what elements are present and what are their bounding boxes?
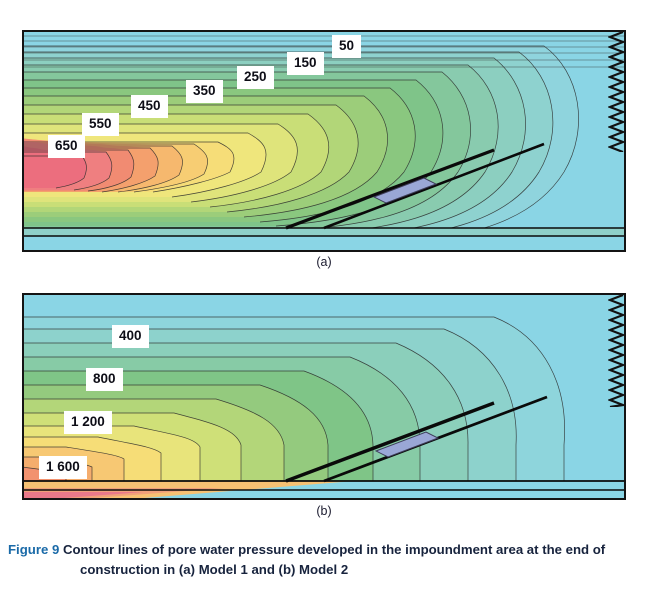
- contour-label-250: 250: [237, 66, 274, 89]
- contour-plot-a: 50 150 250 350 450 550 650: [22, 30, 626, 252]
- contour-label-800: 800: [86, 368, 123, 391]
- boundary-zigzag-icon-b: [608, 295, 624, 407]
- panel-a: 50 150 250 350 450 550 650 (a): [12, 12, 636, 272]
- contour-label-450: 450: [131, 95, 168, 118]
- contour-label-50: 50: [332, 35, 361, 58]
- contour-label-400: 400: [112, 325, 149, 348]
- figure-caption: Figure 9 Contour lines of pore water pre…: [8, 540, 642, 581]
- figure-caption-line2: construction in (a) Model 1 and (b) Mode…: [8, 560, 642, 580]
- figure-caption-line1: Contour lines of pore water pressure dev…: [63, 542, 605, 557]
- figure-container: 50 150 250 350 450 550 650 (a): [0, 0, 649, 594]
- panel-caption-b: (b): [12, 504, 636, 518]
- contour-label-150: 150: [287, 52, 324, 75]
- contour-label-350: 350: [186, 80, 223, 103]
- figure-number: Figure 9: [8, 542, 59, 557]
- contour-plot-b: 400 800 1 200 1 600: [22, 293, 626, 500]
- contour-label-1600: 1 600: [39, 456, 87, 479]
- boundary-zigzag-icon-a: [608, 32, 624, 152]
- contour-label-650: 650: [48, 135, 85, 158]
- contour-svg-a: [24, 32, 624, 250]
- contour-label-550: 550: [82, 113, 119, 136]
- contour-field-a: [24, 32, 624, 250]
- panel-caption-a: (a): [12, 255, 636, 269]
- panel-b: 400 800 1 200 1 600 (b): [12, 272, 636, 533]
- contour-label-1200: 1 200: [64, 411, 112, 434]
